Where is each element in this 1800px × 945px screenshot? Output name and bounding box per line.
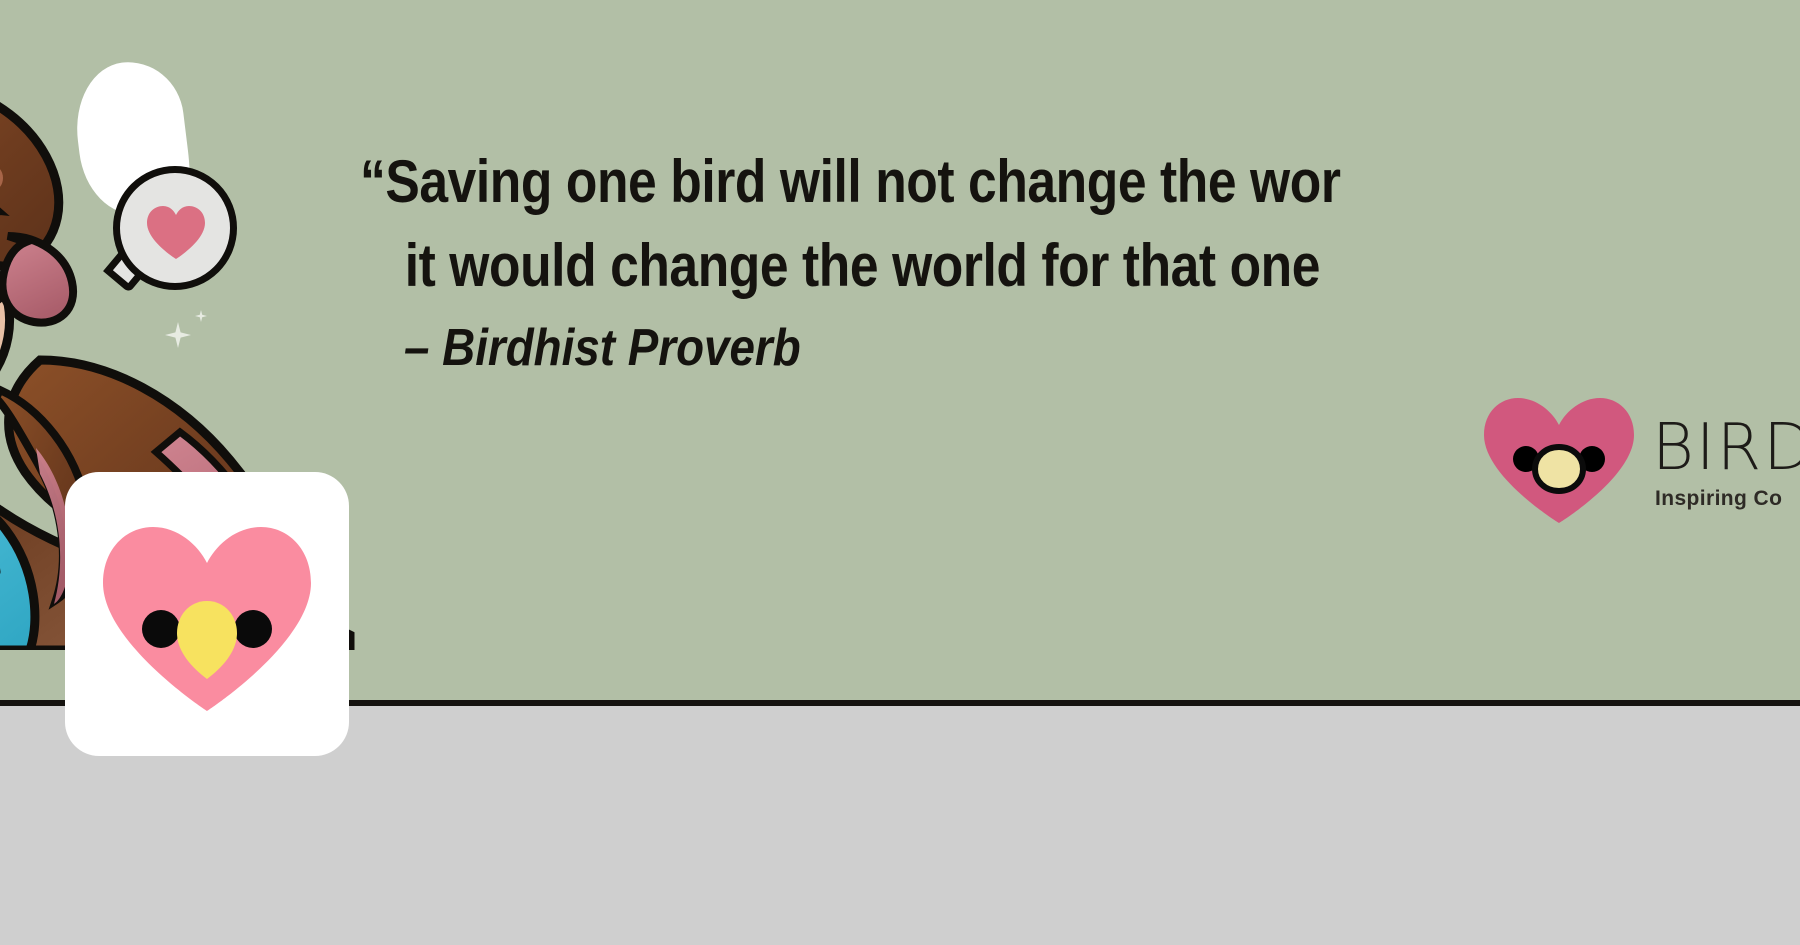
brand-tagline: Inspiring Co (1655, 486, 1800, 512)
app-icon-eye-left (142, 610, 180, 648)
app-icon-eye-right (234, 610, 272, 648)
quote-line-1: “Saving one bird will not change the wor (360, 140, 1616, 224)
brand-lockup[interactable]: BIRD Inspiring Co (1480, 395, 1800, 525)
quote-attribution: – Birdhist Proverb (360, 308, 1645, 388)
quote-line-2: it would change the world for that one (360, 224, 1616, 308)
heart-bird-app-icon (99, 523, 315, 713)
hair-pink-lock-front (2, 236, 73, 323)
app-icon-card[interactable] (65, 472, 349, 756)
page-root: “Saving one bird will not change the wor… (0, 0, 1800, 945)
logo-beak (1535, 447, 1583, 491)
brand-wordmark: BIRD (1652, 416, 1800, 480)
heart-icon (145, 205, 207, 261)
brand-text: BIRD Inspiring Co (1652, 408, 1800, 512)
shirt (0, 479, 35, 650)
heart-bird-logo-icon (1480, 395, 1638, 525)
quote-block: “Saving one bird will not change the wor… (360, 140, 1800, 388)
